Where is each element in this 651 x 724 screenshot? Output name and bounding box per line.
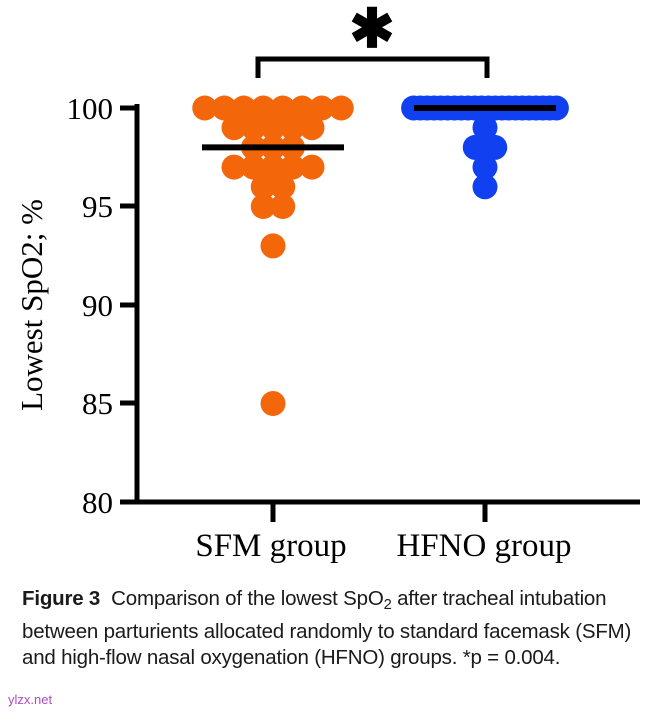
- ytick-label-100: 100: [67, 91, 114, 126]
- data-point: [261, 233, 286, 258]
- data-point: [300, 115, 325, 140]
- significance-star: ✱: [349, 0, 394, 59]
- ytick-label-80: 80: [82, 485, 113, 520]
- caption-line1-a: Comparison of the lowest SpO: [111, 587, 383, 610]
- site-watermark: ylzx.net: [8, 692, 52, 707]
- x-axis: [135, 502, 640, 522]
- significance-bracket: [258, 59, 487, 78]
- ytick-label-85: 85: [82, 386, 113, 421]
- figure-caption: Figure 3 Comparison of the lowest SpO2 a…: [22, 586, 632, 672]
- caption-line4: (HFNO) groups. *p = 0.004.: [314, 646, 560, 669]
- y-axis: [120, 104, 137, 504]
- ytick-label-90: 90: [82, 288, 113, 323]
- xtick-label-sfm: SFM group: [195, 528, 346, 564]
- plot-area: ✱ 100 95 90 85 80 Lowest SpO2; %: [0, 0, 651, 580]
- xtick-label-hfno: HFNO group: [396, 528, 571, 564]
- caption-subscript-2: 2: [384, 597, 392, 613]
- caption-line1-b: after tracheal: [392, 587, 514, 610]
- caption-figure-label: Figure 3: [22, 587, 100, 610]
- data-point: [261, 391, 286, 416]
- y-axis-title: Lowest SpO2; %: [14, 199, 49, 411]
- data-point: [329, 96, 354, 121]
- data-point: [270, 194, 295, 219]
- figure-3: ✱ 100 95 90 85 80 Lowest SpO2; %: [0, 0, 651, 724]
- dot-plot-chart: ✱ 100 95 90 85 80 Lowest SpO2; %: [0, 0, 651, 580]
- ytick-label-95: 95: [82, 189, 113, 224]
- data-point: [300, 155, 325, 180]
- data-point: [473, 174, 498, 199]
- data-points-layer: [192, 96, 569, 417]
